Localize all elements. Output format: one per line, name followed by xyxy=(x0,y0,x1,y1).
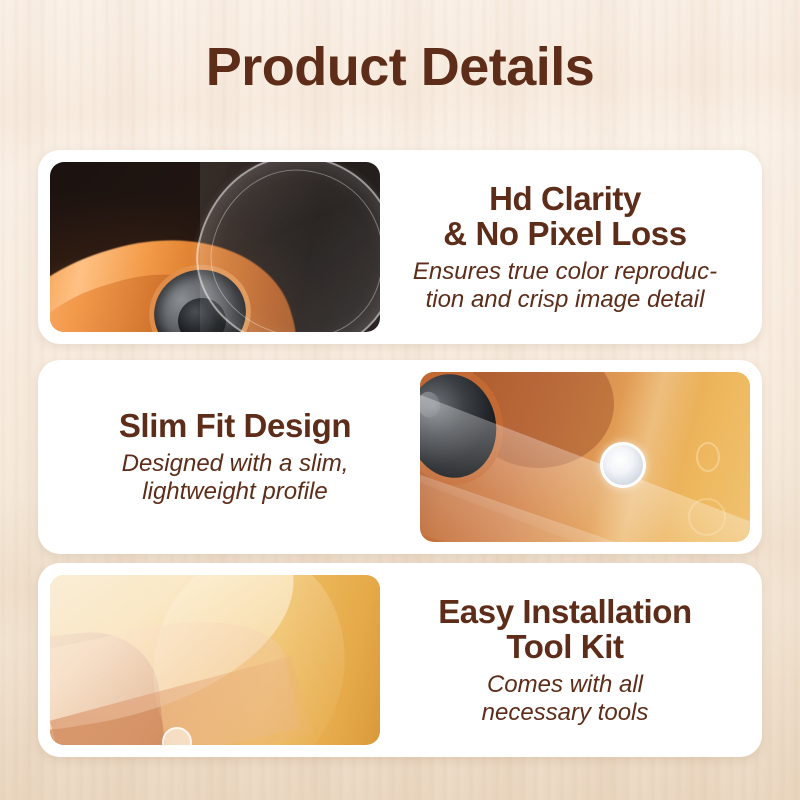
feature-image-hd-clarity xyxy=(50,162,380,332)
camera-flash-icon xyxy=(600,442,646,488)
feature-text-easy-installation: Easy Installation Tool Kit Comes with al… xyxy=(380,594,750,727)
feature-text-hd-clarity: Hd Clarity & No Pixel Loss Ensures true … xyxy=(380,181,750,314)
feature-card-hd-clarity: Hd Clarity & No Pixel Loss Ensures true … xyxy=(38,150,762,344)
feature-description: Designed with a slim, lightweight profil… xyxy=(56,450,414,506)
feature-image-slim-fit-design xyxy=(420,372,750,542)
feature-card-slim-fit-design: Slim Fit Design Designed with a slim, li… xyxy=(38,360,762,554)
feature-heading: Easy Installation Tool Kit xyxy=(386,594,744,665)
feature-heading: Hd Clarity & No Pixel Loss xyxy=(386,181,744,252)
feature-card-easy-installation: Easy Installation Tool Kit Comes with al… xyxy=(38,563,762,757)
logo-mark-shape xyxy=(696,442,720,472)
feature-image-easy-installation xyxy=(50,575,380,745)
feature-heading: Slim Fit Design xyxy=(56,408,414,444)
feature-description: Comes with all necessary tools xyxy=(386,671,744,727)
logo-mark-shape-secondary xyxy=(688,498,726,536)
page-title: Product Details xyxy=(0,36,800,98)
product-details-page: Product Details Hd Clarity & No Pixel Lo… xyxy=(0,0,800,800)
feature-description: Ensures true color reproduc- tion and cr… xyxy=(386,258,744,314)
feature-text-slim-fit-design: Slim Fit Design Designed with a slim, li… xyxy=(50,408,420,505)
